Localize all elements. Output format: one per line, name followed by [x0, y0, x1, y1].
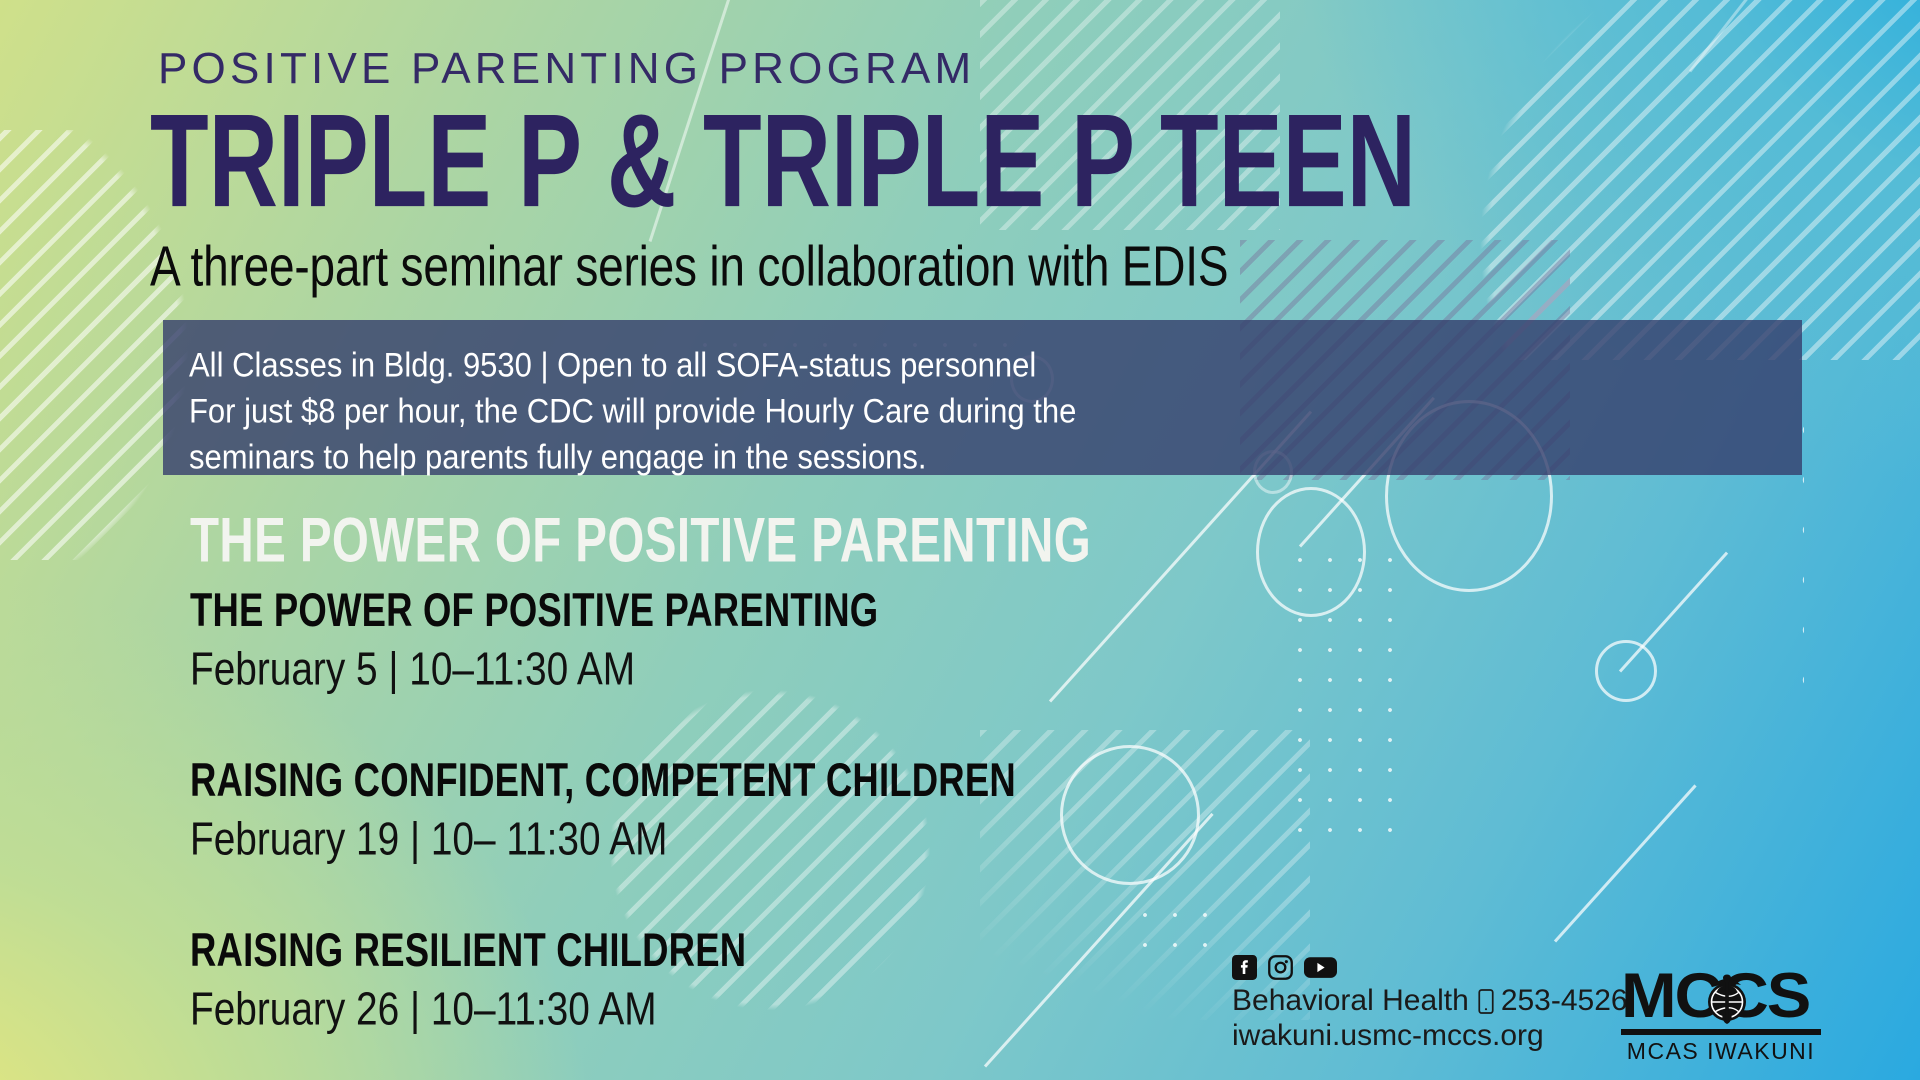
- flyer-content: POSITIVE PARENTING PROGRAM TRIPLE P & TR…: [0, 0, 1920, 1080]
- eagle-globe-anchor-icon: [1695, 962, 1759, 1028]
- contact-label: Behavioral Health: [1232, 984, 1469, 1019]
- session-date: February 19 | 10– 11:30 AM: [190, 814, 1025, 866]
- section-heading: THE POWER OF POSITIVE PARENTING: [190, 505, 1091, 577]
- session-item-1: THE POWER OF POSITIVE PARENTING February…: [190, 585, 907, 689]
- session-item-3: RAISING RESILIENT CHILDREN February 26 |…: [190, 925, 769, 1029]
- session-date: February 5 | 10–11:30 AM: [190, 644, 885, 696]
- session-item-2: RAISING CONFIDENT, COMPETENT CHILDREN Fe…: [190, 755, 1050, 859]
- mobile-phone-icon: [1478, 989, 1494, 1014]
- flyer-subtitle: A three-part seminar series in collabora…: [150, 233, 1228, 299]
- mccs-wordmark-row: MCCS: [1621, 965, 1821, 1027]
- contact-block: Behavioral Health 253-4526 iwakuni.usmc-…: [1232, 955, 1628, 1054]
- flyer-canvas: POSITIVE PARENTING PROGRAM TRIPLE P & TR…: [0, 0, 1920, 1080]
- mccs-logo-subtitle: MCAS IWAKUNI: [1621, 1038, 1821, 1065]
- youtube-icon[interactable]: [1304, 955, 1337, 980]
- instagram-icon[interactable]: [1268, 955, 1293, 980]
- info-box-line-1: All Classes in Bldg. 9530 | Open to all …: [189, 342, 1778, 389]
- session-title: RAISING RESILIENT CHILDREN: [190, 925, 746, 978]
- contact-phone-number[interactable]: 253-4526: [1501, 984, 1628, 1019]
- contact-phone-line: Behavioral Health 253-4526: [1232, 984, 1628, 1019]
- facebook-icon[interactable]: [1232, 955, 1257, 980]
- info-box-line-2: For just $8 per hour, the CDC will provi…: [189, 388, 1778, 435]
- social-icons: [1232, 955, 1628, 980]
- mccs-logo: MCCS MCAS IWAKUNI: [1621, 965, 1821, 1065]
- session-title: THE POWER OF POSITIVE PARENTING: [190, 585, 878, 638]
- session-date: February 26 | 10–11:30 AM: [190, 984, 752, 1036]
- info-box: All Classes in Bldg. 9530 | Open to all …: [163, 320, 1802, 475]
- info-box-line-3: seminars to help parents fully engage in…: [189, 434, 1778, 481]
- contact-website[interactable]: iwakuni.usmc-mccs.org: [1232, 1019, 1628, 1054]
- flyer-title: TRIPLE P & TRIPLE P TEEN: [150, 93, 1416, 232]
- session-title: RAISING CONFIDENT, COMPETENT CHILDREN: [190, 755, 1016, 808]
